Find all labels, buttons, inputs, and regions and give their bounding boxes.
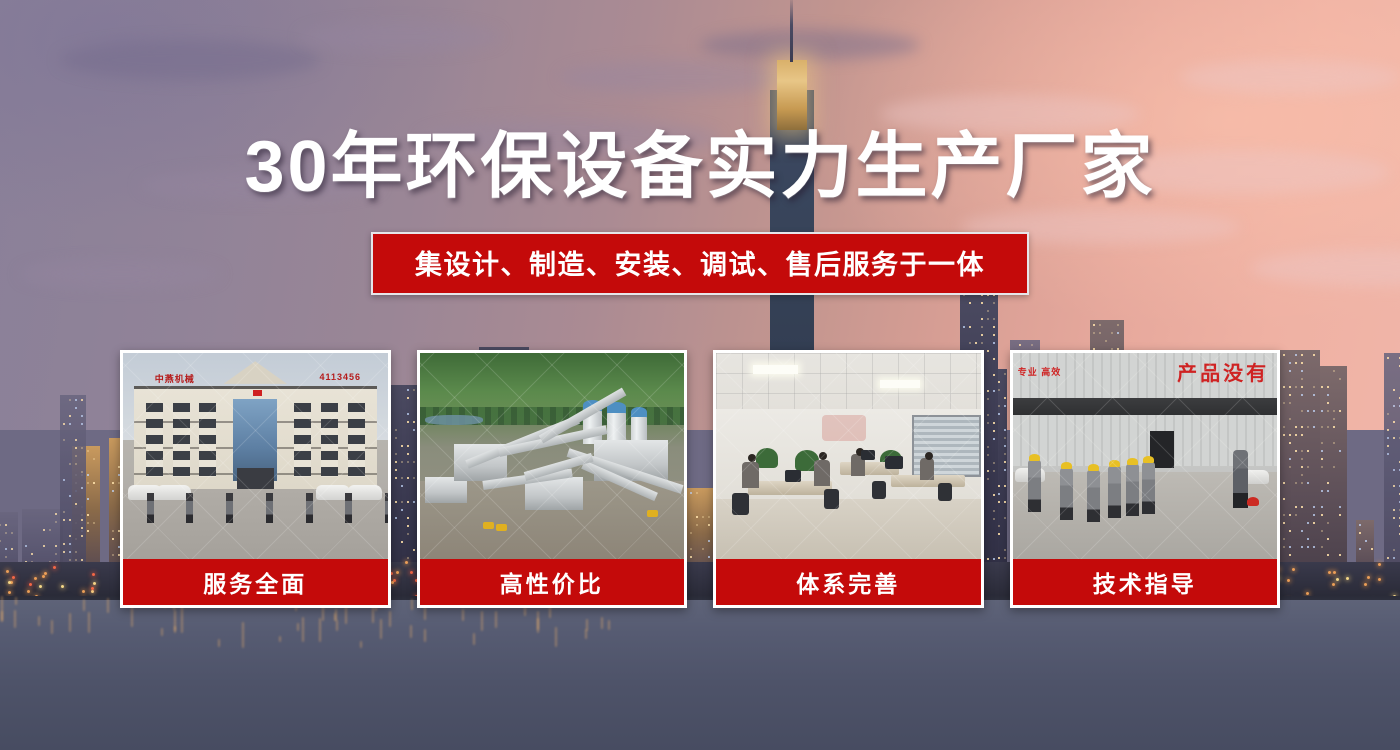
feature-card-system[interactable]: 体系完善: [713, 350, 984, 608]
hard-hat-icon: [1088, 464, 1099, 471]
hard-hat-icon: [1143, 456, 1154, 463]
building-sign-text: 中燕机械: [155, 372, 195, 385]
worker-figure: [1087, 470, 1100, 522]
card-photo-worker-briefing: 产品没有 专业 高效: [1013, 353, 1278, 559]
river: [0, 600, 1400, 750]
worker-figure: [1060, 468, 1073, 520]
flag-icon: [253, 390, 262, 396]
staff-figure: [226, 493, 233, 523]
building: [1280, 350, 1320, 590]
tower-crown-light: [777, 60, 807, 130]
hard-hat-icon: [1061, 462, 1072, 469]
staff-figure: [186, 493, 193, 523]
feature-card-service[interactable]: 中燕机械 4113456 服务全面: [120, 350, 391, 608]
promo-banner: 30年环保设备实力生产厂家 集设计、制造、安装、调试、售后服务于一体: [0, 0, 1400, 750]
card-photo-office-building: 中燕机械 4113456: [123, 353, 388, 559]
wall-logo: [822, 415, 866, 441]
card-label-value: 高性价比: [420, 559, 685, 605]
staff-figure: [147, 493, 154, 523]
subtitle-banner: 集设计、制造、安装、调试、售后服务于一体: [371, 232, 1029, 295]
feature-card-row: 中燕机械 4113456 服务全面: [120, 350, 1280, 608]
worker-figure: [1142, 462, 1155, 514]
feature-card-guidance[interactable]: 产品没有 专业 高效 技术指导: [1010, 350, 1281, 608]
hard-hat-icon: [1029, 454, 1040, 461]
worker-figure: [1108, 466, 1121, 518]
hard-hat-icon: [1109, 460, 1120, 467]
tower-spire: [790, 0, 793, 62]
building: [1384, 353, 1400, 590]
hard-hat-icon: [1127, 458, 1138, 465]
page-title: 30年环保设备实力生产厂家: [0, 128, 1400, 206]
staff-figure: [345, 493, 352, 523]
feature-card-value[interactable]: 高性价比: [417, 350, 688, 608]
staff-figure: [266, 493, 273, 523]
card-label-service: 服务全面: [123, 559, 388, 605]
building: [60, 395, 86, 590]
staff-figure: [306, 493, 313, 523]
card-label-system: 体系完善: [716, 559, 981, 605]
factory-banner-text: 产品没有: [1177, 357, 1269, 386]
building-phone-text: 4113456: [320, 372, 362, 382]
worker-figure: [1126, 464, 1139, 516]
factory-slogan-text: 专业 高效: [1018, 365, 1062, 378]
card-photo-office-interior: [716, 353, 981, 559]
worker-figure: [1028, 460, 1041, 512]
staff-figure: [385, 493, 388, 523]
card-label-guidance: 技术指导: [1013, 559, 1278, 605]
card-photo-industrial-plant: [420, 353, 685, 559]
